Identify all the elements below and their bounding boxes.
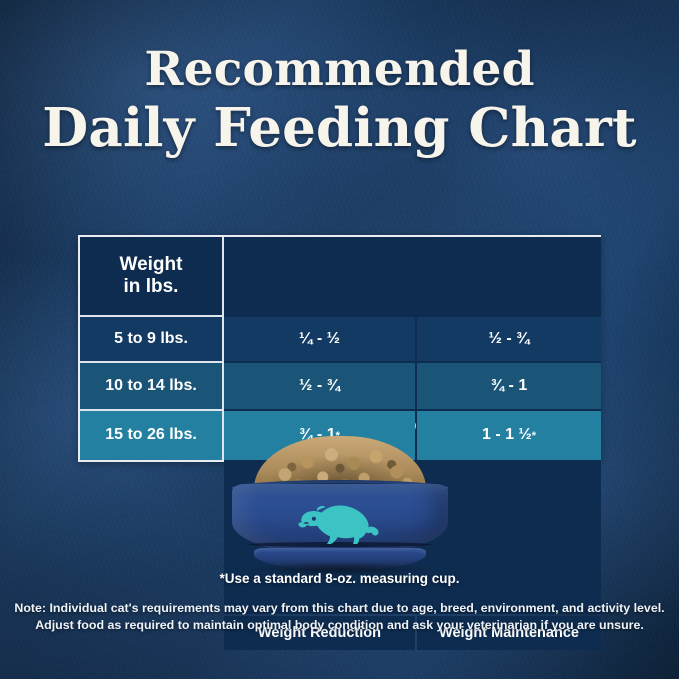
row-weight-maintenance-value: ½ - ¾ [417,317,601,361]
value-text: ½ - ¾ [489,330,530,348]
disclaimer-line-1: Note: Individual cat's requirements may … [0,600,679,617]
feeding-table: Weight in lbs. Cups per day Weight Reduc… [78,235,601,462]
header-right-group: Cups per day Weight Reduction Weight Mai… [224,237,601,315]
row-weight-range: 10 to 14 lbs. [80,363,222,409]
header-weight-cell: Weight in lbs. [80,237,222,315]
header-weight-line2: in lbs. [124,276,179,297]
buffalo-icon [294,498,386,544]
row-weight-range: 15 to 26 lbs. [80,411,222,460]
value-text: 1 - 1 ½ [482,426,532,444]
value-text: ¼ - ½ [299,330,340,348]
value-text: ¾ - 1 [491,377,527,395]
disclaimer-note: Note: Individual cat's requirements may … [0,600,679,634]
table-row: 5 to 9 lbs. ¼ - ½ ½ - ¾ [80,317,599,361]
row-weight-maintenance-value: ¾ - 1 [417,363,601,409]
title-line-1: Recommended [0,46,679,93]
feeding-chart-page: Recommended Daily Feeding Chart Weight i… [0,0,679,679]
row-weight-reduction-value: ¼ - ½ [224,317,415,361]
row-weight-range: 5 to 9 lbs. [80,317,222,361]
row-weight-reduction-value: ½ - ¾ [224,363,415,409]
page-title: Recommended Daily Feeding Chart [0,46,679,155]
value-text: ½ - ¾ [299,377,340,395]
disclaimer-line-2: Adjust food as required to maintain opti… [0,617,679,634]
table-header: Weight in lbs. Cups per day Weight Reduc… [80,237,599,315]
header-weight-line1: Weight [120,254,183,275]
measuring-cup-note: *Use a standard 8-oz. measuring cup. [0,571,679,586]
table-row: 10 to 14 lbs. ½ - ¾ ¾ - 1 [80,363,599,409]
title-line-2: Daily Feeding Chart [0,102,679,155]
dog-food-bowl-graphic [232,436,448,570]
